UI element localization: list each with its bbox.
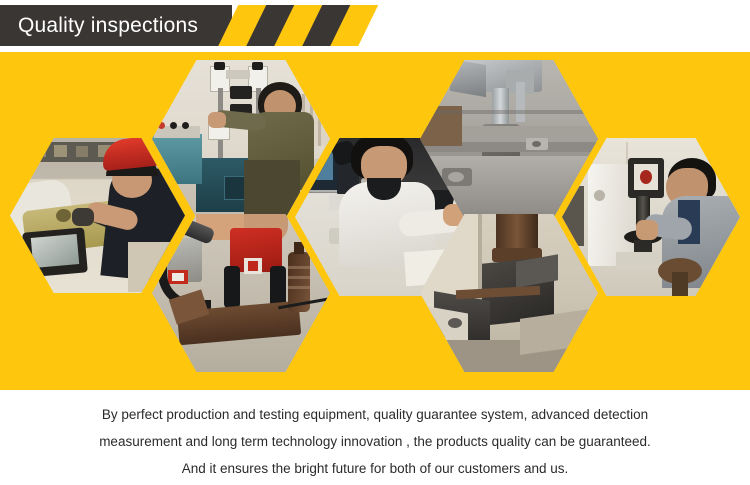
hex-magnetic-particle-inspection[interactable] bbox=[152, 214, 330, 372]
header-bar: Quality inspections bbox=[0, 5, 750, 46]
quality-inspections-banner: Quality inspections bbox=[0, 0, 750, 485]
hex-universal-tensile-testing[interactable] bbox=[152, 60, 330, 218]
page-title: Quality inspections bbox=[18, 5, 198, 46]
hex-photo-tensile bbox=[152, 60, 330, 218]
hex-photo-magnetic-particle bbox=[152, 214, 330, 372]
hex-brinell-hardness-tester[interactable] bbox=[562, 138, 740, 296]
footer-description: By perfect production and testing equipm… bbox=[0, 390, 750, 485]
hex-photo-hardness-tester bbox=[562, 138, 740, 296]
header-stripe-mask bbox=[351, 5, 750, 46]
hex-ultrasonic-flaw-detection[interactable] bbox=[10, 138, 185, 293]
footer-line-3: And it ensures the bright future for bot… bbox=[0, 462, 750, 476]
gallery-band bbox=[0, 52, 750, 390]
hex-photo-ultrasonic bbox=[10, 138, 185, 293]
footer-line-2: measurement and long term technology inn… bbox=[0, 435, 750, 449]
footer-line-1: By perfect production and testing equipm… bbox=[0, 408, 750, 422]
